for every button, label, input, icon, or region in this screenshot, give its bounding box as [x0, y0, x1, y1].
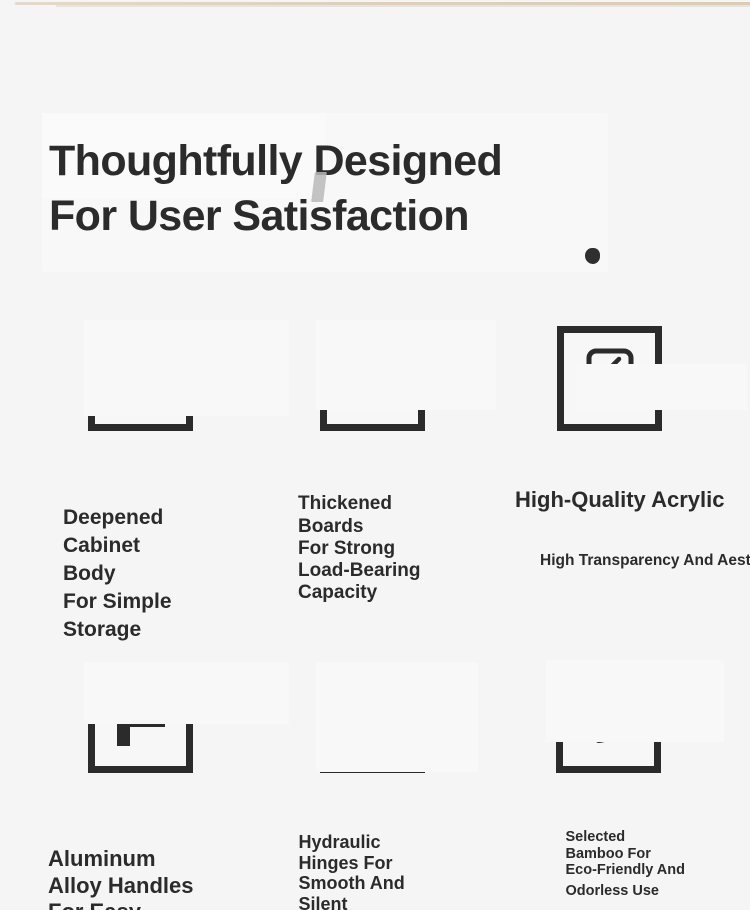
render-artifact-dot	[585, 248, 600, 264]
feature-label: Deepened Cabinet Body For Simple Storage	[63, 448, 193, 643]
feature-item-aluminum-alloy-handles[interactable]: Aluminum Alloy Handles For Easy Opening	[88, 668, 193, 910]
feature-title: High-Quality Acrylic	[515, 487, 750, 513]
top-divider-rule-secondary	[56, 5, 750, 7]
feature-item-selected-bamboo[interactable]: Selected Bamboo For Eco-Friendly And Odo…	[556, 668, 685, 910]
feature-grid: Deepened Cabinet Body For Simple Storage…	[0, 326, 750, 910]
feature-label: Thickened Boards For Strong Load-Bearing…	[298, 449, 425, 605]
feature-label: Hydraulic Hinges For Smooth And Silent O…	[298, 790, 425, 910]
feature-subtitle: High Transparency And Aesth	[540, 552, 750, 571]
feature-item-high-quality-acrylic[interactable]: High-Quality Acrylic High Transparency A…	[557, 326, 750, 589]
feature-label: Selected Bamboo For Eco-Friendly And Odo…	[565, 796, 685, 910]
feature-label: High-Quality Acrylic High Transparency A…	[515, 451, 750, 589]
page-title: Thoughtfully Designed For User Satisfact…	[49, 134, 669, 244]
feature-label: Aluminum Alloy Handles For Easy Opening	[48, 793, 193, 910]
product-feature-page: Thoughtfully Designed For User Satisfact…	[0, 0, 750, 910]
feature-row-1: Deepened Cabinet Body For Simple Storage…	[0, 326, 750, 643]
feature-label-last-line: Odorless Use	[565, 883, 685, 899]
feature-item-thickened-boards[interactable]: Thickened Boards For Strong Load-Bearing…	[320, 326, 425, 605]
feature-row-2: Aluminum Alloy Handles For Easy Opening	[0, 668, 750, 910]
feature-item-hydraulic-hinges[interactable]: Hydraulic Hinges For Smooth And Silent O…	[320, 668, 425, 910]
feature-item-deepened-cabinet-body[interactable]: Deepened Cabinet Body For Simple Storage	[88, 326, 193, 643]
